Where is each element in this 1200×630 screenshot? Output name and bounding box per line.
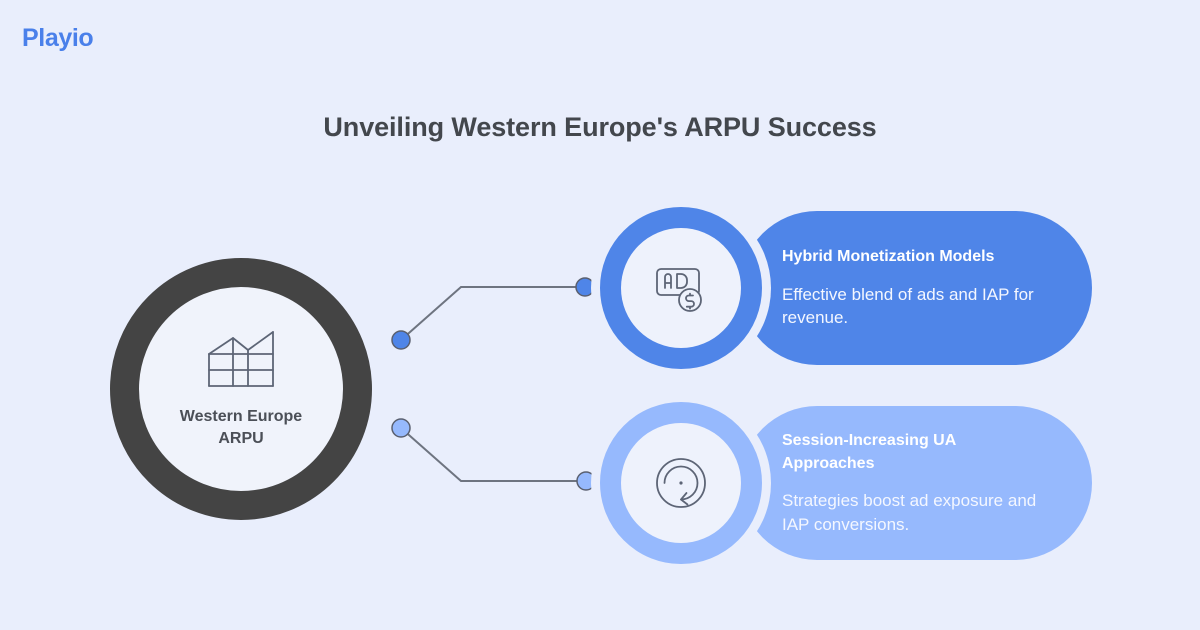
connector-node-hub-2 bbox=[392, 419, 410, 437]
branch-title-1: Hybrid Monetization Models bbox=[782, 246, 1046, 269]
branch-card-2[interactable]: Session-Increasing UA Approaches Strateg… bbox=[740, 406, 1092, 560]
hub-label-line-1: Western Europe bbox=[180, 406, 302, 428]
branch-card-1[interactable]: Hybrid Monetization Models Effective ble… bbox=[740, 211, 1092, 365]
branch-item-1[interactable]: Hybrid Monetization Models Effective ble… bbox=[600, 207, 1092, 369]
rotate-refresh-icon bbox=[652, 454, 710, 512]
bar-chart-grid-icon bbox=[203, 328, 279, 390]
ads-dollar-icon bbox=[652, 259, 710, 317]
branch-icon-ring-2[interactable] bbox=[600, 402, 762, 564]
branch-icon-inner-2 bbox=[621, 423, 741, 543]
infographic-canvas: Playio Unveiling Western Europe's ARPU S… bbox=[0, 0, 1200, 630]
connector-line-1 bbox=[401, 287, 585, 340]
branch-description-1: Effective blend of ads and IAP for reven… bbox=[782, 283, 1046, 330]
branch-title-2: Session-Increasing UA Approaches bbox=[782, 430, 1046, 475]
brand-logo: Playio bbox=[22, 24, 93, 53]
hub-label: Western Europe ARPU bbox=[180, 406, 302, 450]
branch-icon-ring-1[interactable] bbox=[600, 207, 762, 369]
branch-icon-inner-1 bbox=[621, 228, 741, 348]
hub-label-line-2: ARPU bbox=[180, 428, 302, 450]
central-hub[interactable]: Western Europe ARPU bbox=[110, 258, 372, 520]
connector-line-2 bbox=[401, 428, 586, 481]
branch-item-2[interactable]: Session-Increasing UA Approaches Strateg… bbox=[600, 402, 1092, 564]
page-title: Unveiling Western Europe's ARPU Success bbox=[0, 112, 1200, 143]
branch-description-2: Strategies boost ad exposure and IAP con… bbox=[782, 489, 1046, 536]
connector-node-hub-1 bbox=[392, 331, 410, 349]
